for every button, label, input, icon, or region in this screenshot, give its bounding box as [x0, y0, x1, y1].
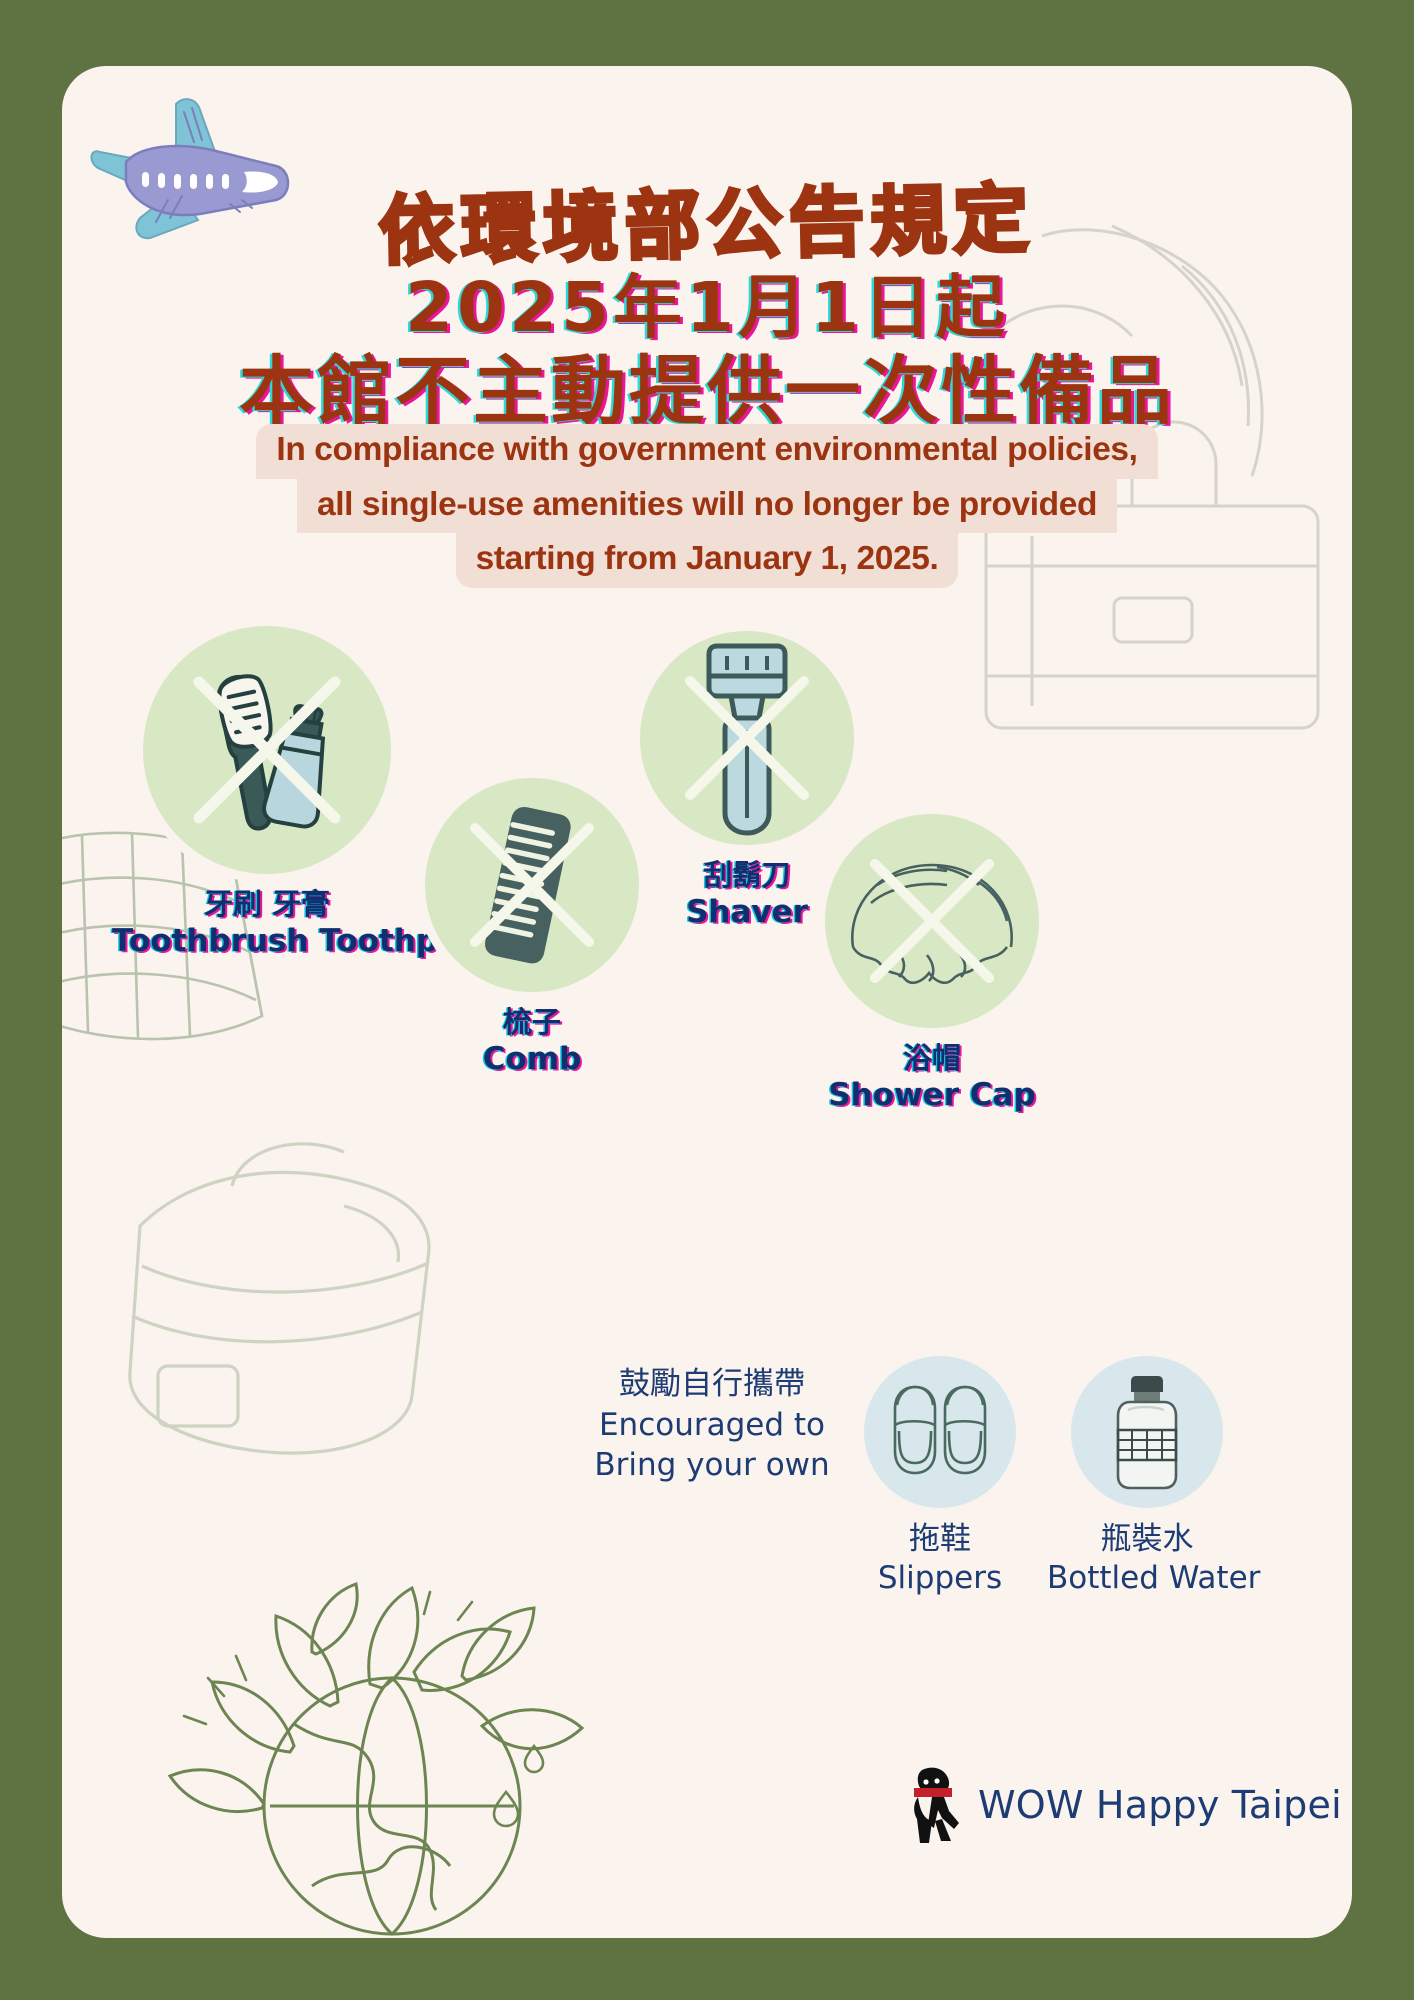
comb-icon — [457, 800, 607, 970]
byo-item-slippers: 拖鞋 Slippers — [860, 1356, 1020, 1598]
amenity-shower-cap: 浴帽 Shower Cap — [792, 814, 1072, 1115]
amenity-toothbrush-toothpaste: 牙刷 牙膏 Toothbrush Toothpaste — [112, 626, 422, 961]
amenity-circle — [825, 814, 1039, 1028]
poster-card: 依環境部公告規定 2025年1月1日起 本館不主動提供一次性備品 In comp… — [62, 66, 1352, 1938]
page-title-main: 2025年1月1日起 本館不主動提供一次性備品 — [62, 272, 1352, 433]
suitcase-left-line-art — [82, 1066, 482, 1506]
shower-cap-icon — [837, 851, 1027, 991]
byo-heading-en-2: Bring your own — [592, 1445, 832, 1486]
toothbrush-toothpaste-icon — [172, 655, 362, 845]
byo-label-cn: 拖鞋 — [860, 1520, 1020, 1559]
byo-label-cn: 瓶裝水 — [1047, 1520, 1247, 1559]
byo-circle — [864, 1356, 1016, 1508]
shaver-icon — [687, 638, 807, 838]
amenity-label-en: Shower Cap — [792, 1077, 1072, 1115]
byo-circle — [1071, 1356, 1223, 1508]
bottled-water-icon — [1092, 1370, 1202, 1494]
byo-heading-en-1: Encouraged to — [592, 1405, 832, 1446]
footer-logo-text: WOW Happy Taipei — [978, 1783, 1342, 1827]
byo-label-en: Bottled Water — [1047, 1559, 1247, 1598]
amenity-label-cn: 浴帽 — [792, 1041, 1072, 1077]
title-line-1: 2025年1月1日起 — [62, 272, 1352, 345]
byo-heading-cn: 鼓勵自行攜帶 — [592, 1364, 832, 1405]
wow-happy-taipei-mascot-icon — [902, 1766, 964, 1844]
byo-item-bottled-water: 瓶裝水 Bottled Water — [1047, 1356, 1247, 1598]
amenity-label-cn: 牙刷 牙膏 — [112, 887, 422, 923]
amenity-label-cn: 梳子 — [402, 1005, 662, 1041]
amenity-label-en: Comb — [402, 1041, 662, 1079]
page-title-outline: 依環境部公告規定 — [62, 152, 1352, 286]
english-notice: In compliance with government environmen… — [112, 424, 1302, 588]
amenity-circle — [143, 626, 391, 874]
globe-with-leaves-line-art — [162, 1556, 632, 1938]
english-notice-line-3: starting from January 1, 2025. — [456, 533, 959, 588]
slippers-icon — [881, 1373, 999, 1491]
english-notice-line-1: In compliance with government environmen… — [256, 424, 1157, 479]
amenity-label-en: Toothbrush Toothpaste — [112, 923, 422, 961]
english-notice-line-2: all single-use amenities will no longer … — [297, 479, 1117, 534]
footer-logo: WOW Happy Taipei — [902, 1766, 1342, 1844]
amenity-circle — [640, 631, 854, 845]
byo-label-en: Slippers — [860, 1559, 1020, 1598]
title-line-2: 本館不主動提供一次性備品 — [62, 349, 1352, 433]
bring-your-own-heading: 鼓勵自行攜帶 Encouraged to Bring your own — [592, 1364, 832, 1486]
